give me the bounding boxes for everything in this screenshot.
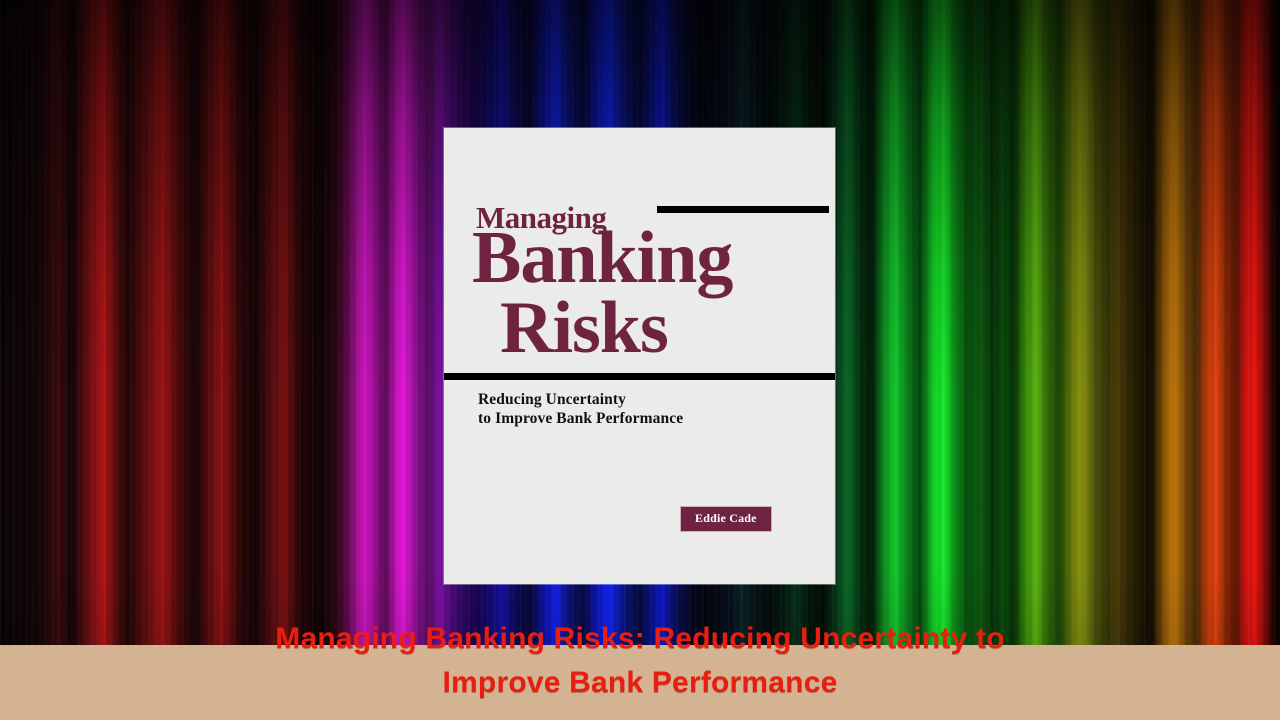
cover-author-badge: Eddie Cade xyxy=(680,506,772,532)
screenshot-stage: Managing Banking Risks Reducing Uncertai… xyxy=(0,0,1280,720)
cover-rule-top xyxy=(657,206,829,213)
caption-title: Managing Banking Risks: Reducing Uncerta… xyxy=(0,617,1280,705)
cover-subtitle: Reducing Uncertainty to Improve Bank Per… xyxy=(478,390,683,429)
cover-title-line-risks: Risks xyxy=(500,293,668,364)
cover-title-line-banking: Banking xyxy=(472,223,732,294)
book-cover-artwork: Managing Banking Risks Reducing Uncertai… xyxy=(444,128,835,584)
book-cover-image[interactable]: Managing Banking Risks Reducing Uncertai… xyxy=(444,128,835,584)
cover-rule-bottom xyxy=(444,373,835,380)
